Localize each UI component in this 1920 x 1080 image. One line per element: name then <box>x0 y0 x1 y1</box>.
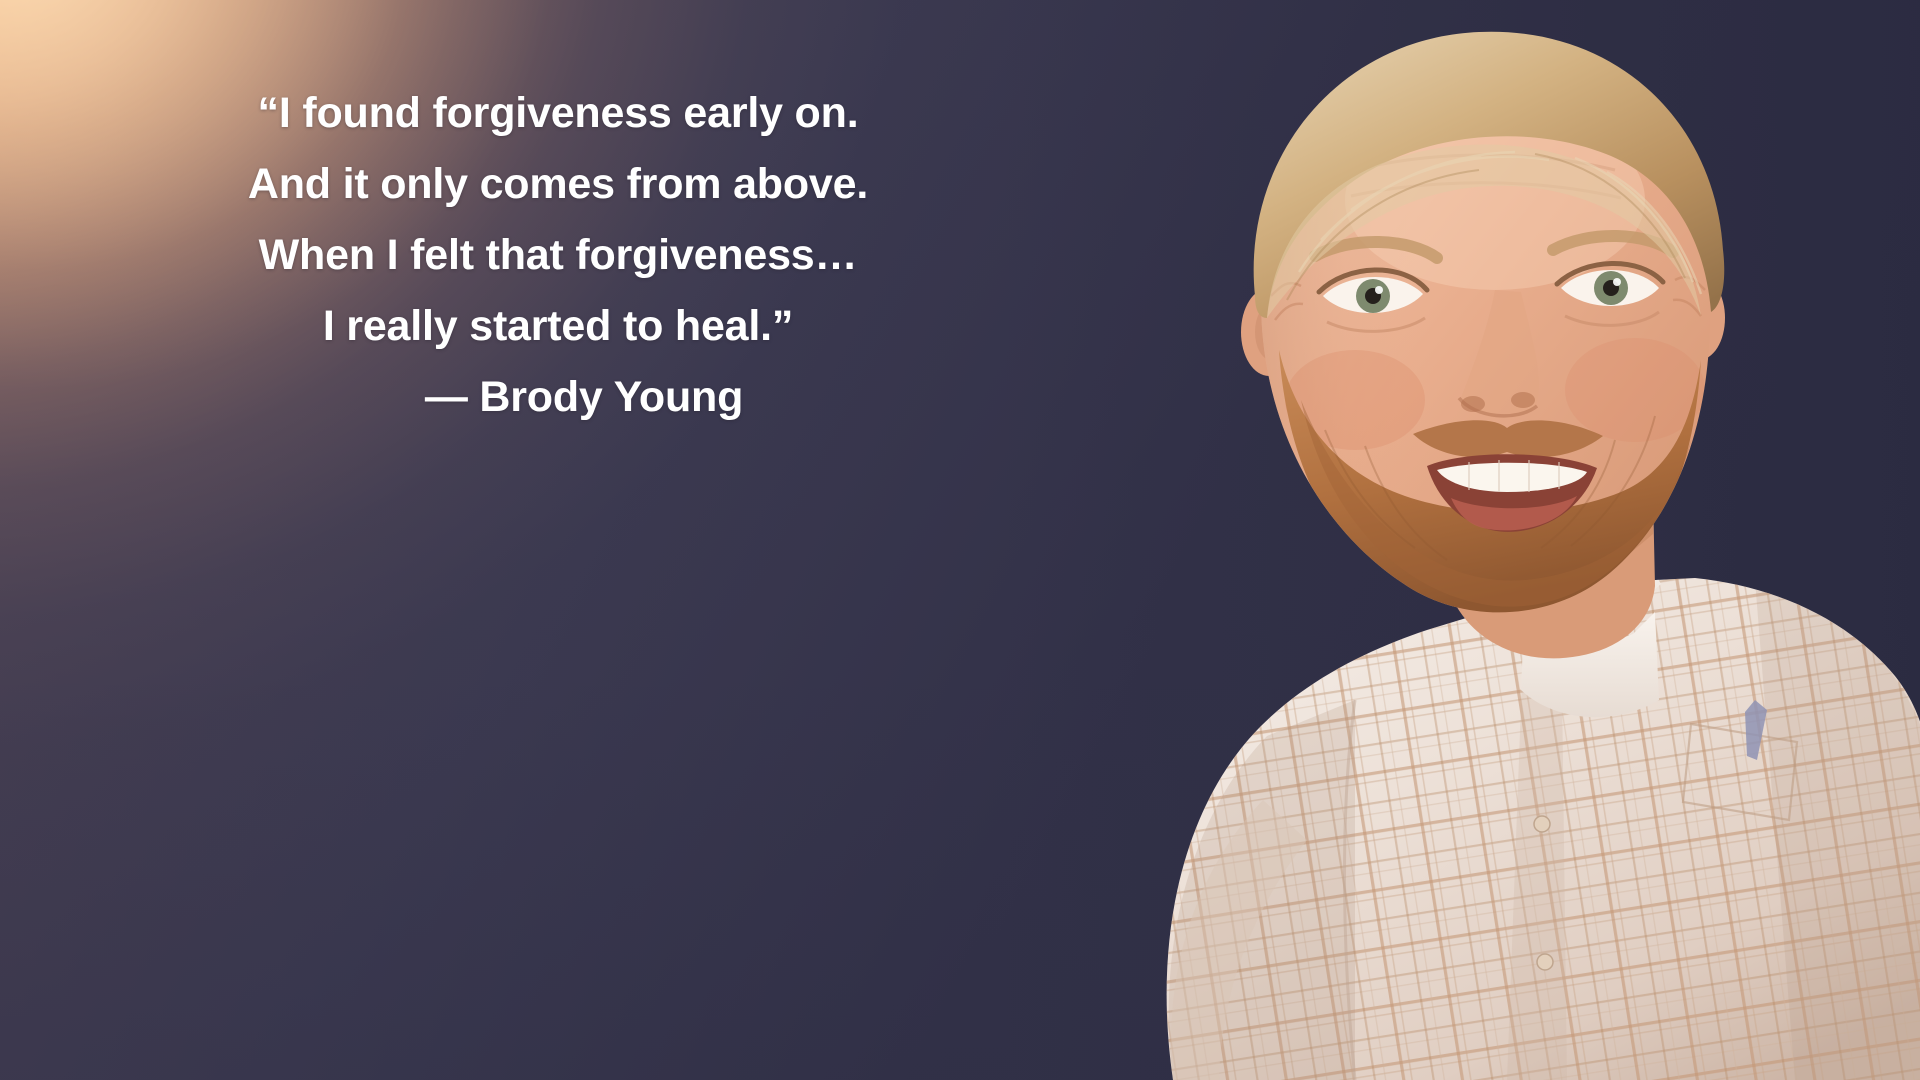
quote-attribution: — Brody Young <box>118 362 998 433</box>
quote-text-block: “I found forgiveness early on. And it on… <box>118 78 998 433</box>
portrait-image <box>1055 0 1920 1080</box>
quote-line-4: I really started to heal.” <box>118 291 998 362</box>
quote-line-2: And it only comes from above. <box>118 149 998 220</box>
quote-line-1: “I found forgiveness early on. <box>118 78 998 149</box>
quote-card: “I found forgiveness early on. And it on… <box>0 0 1920 1080</box>
quote-line-3: When I felt that forgiveness… <box>118 220 998 291</box>
